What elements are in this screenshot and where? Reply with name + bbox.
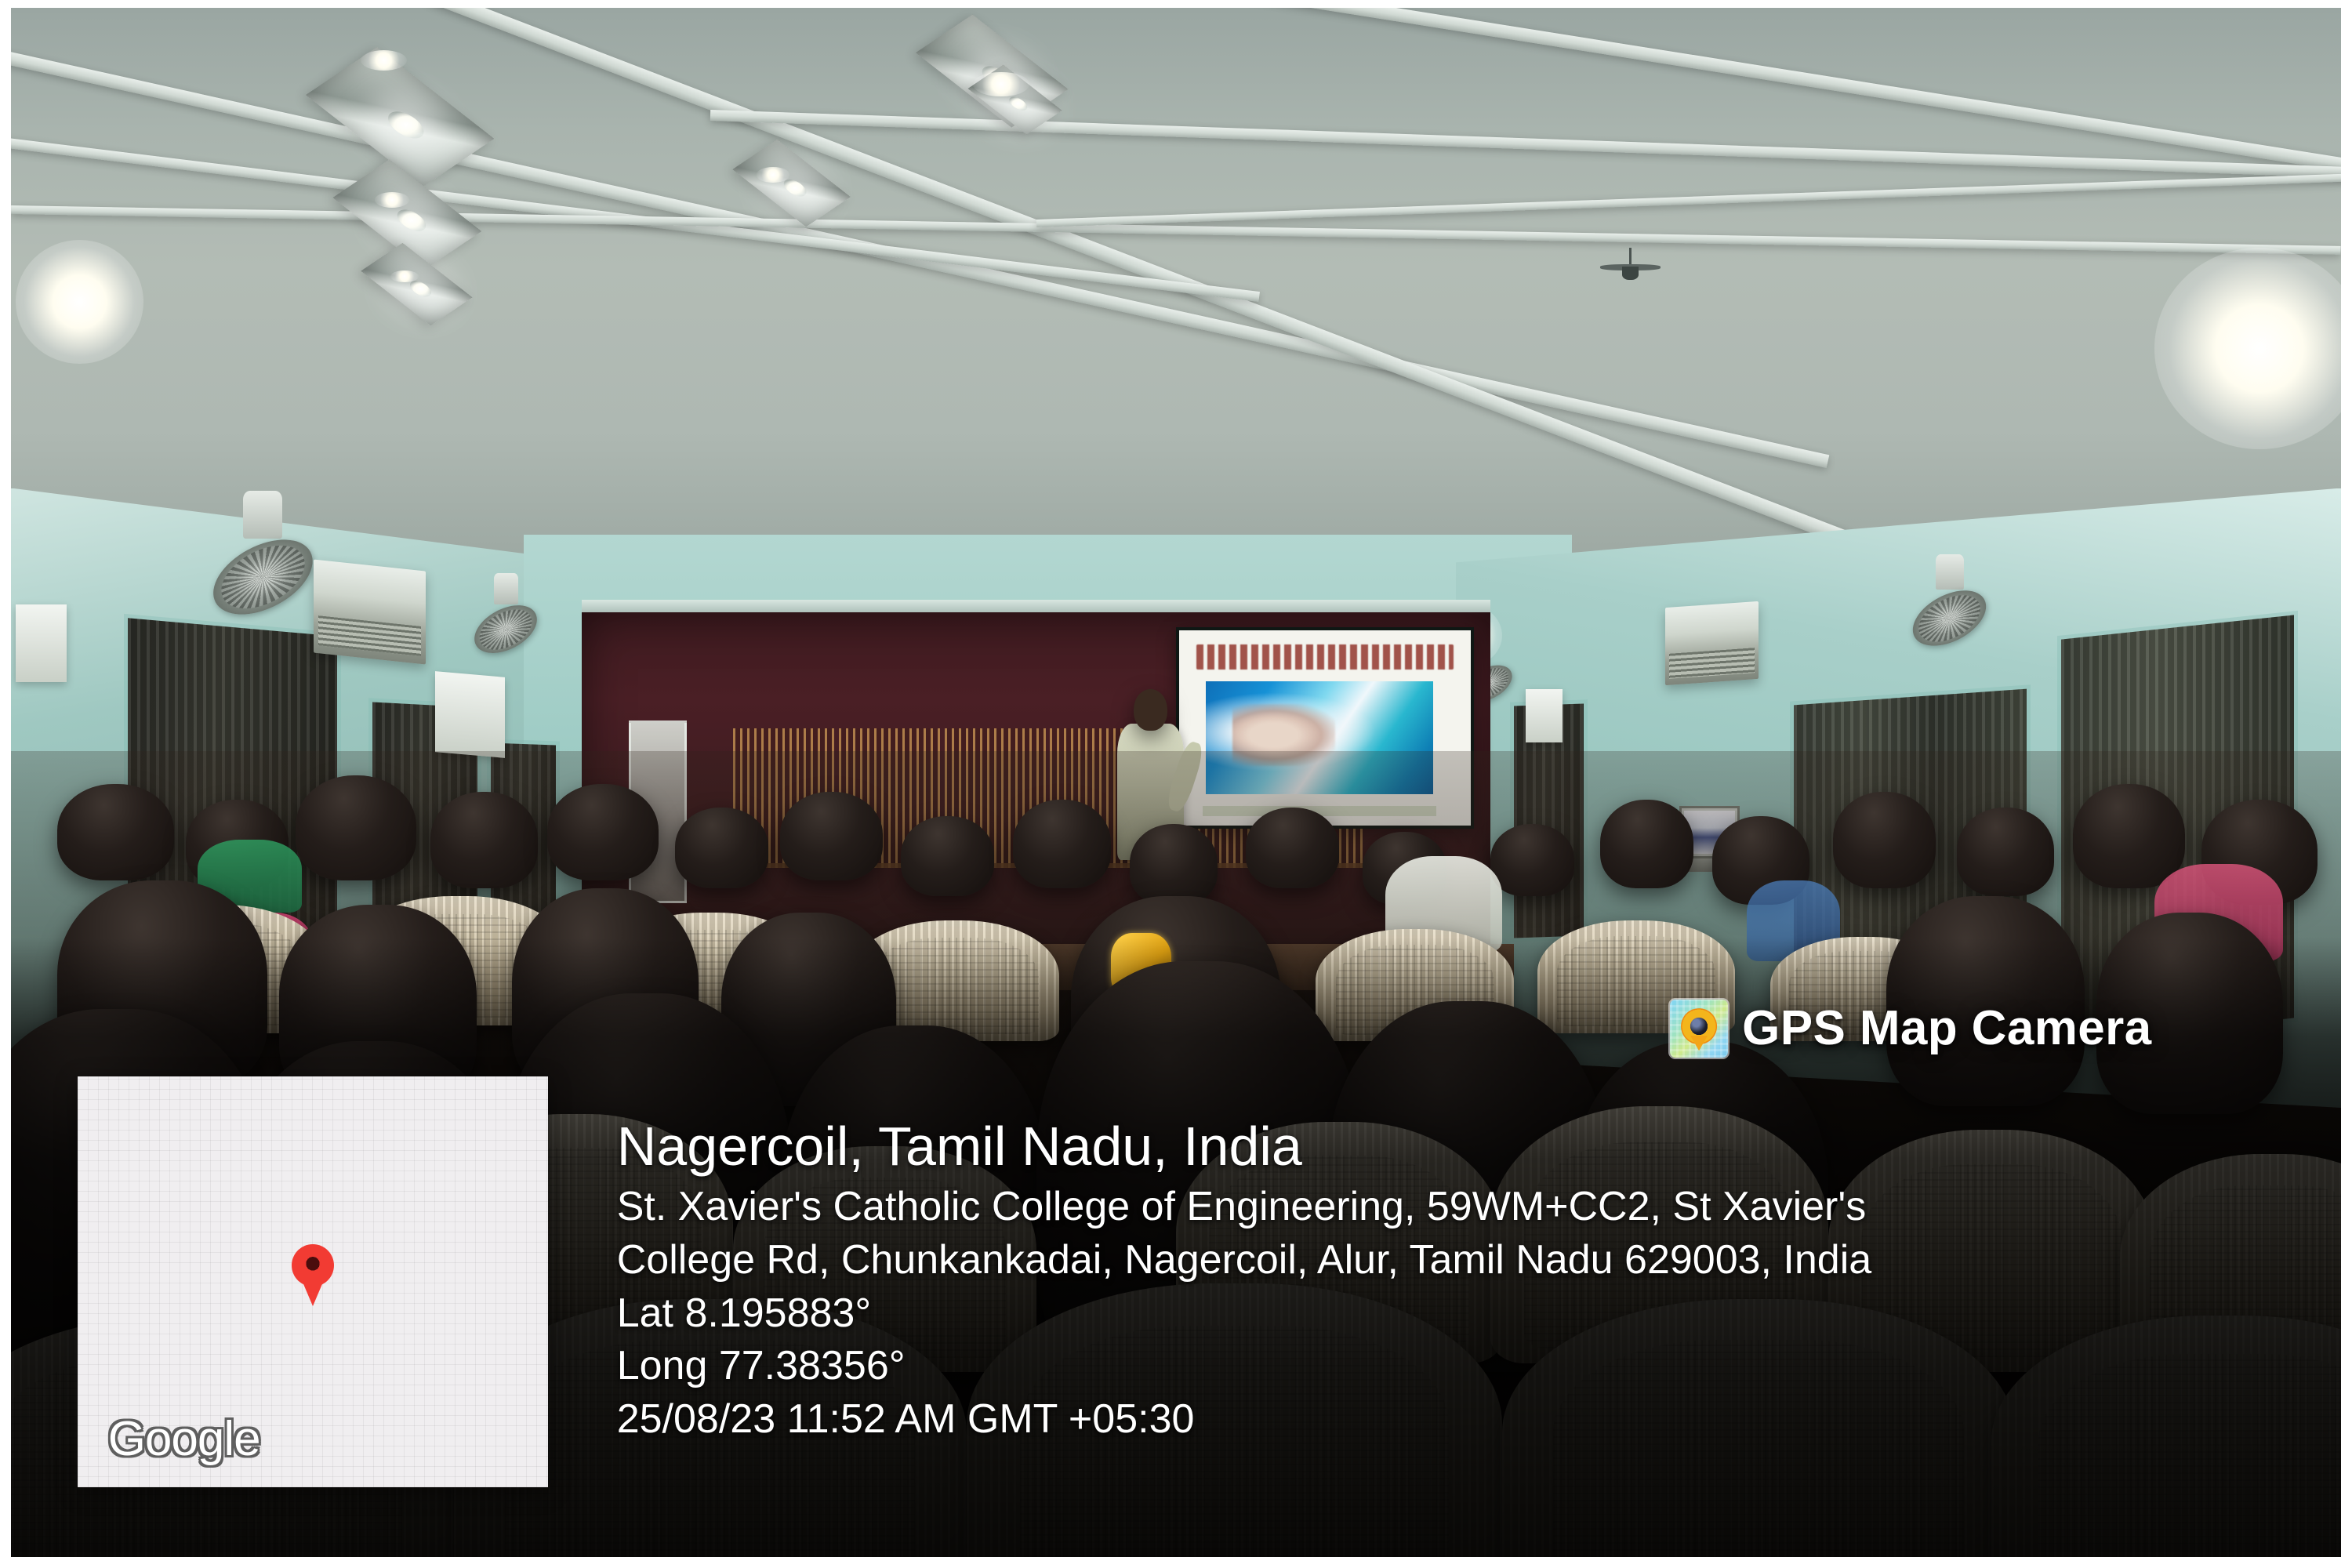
ceiling-spotlight bbox=[361, 50, 407, 71]
photo-frame: GPS Map Camera Google Nagercoil, Tamil N… bbox=[0, 0, 2352, 1568]
attendee-head bbox=[1600, 800, 1693, 888]
ac-vent bbox=[318, 616, 421, 657]
ceiling-spotlight bbox=[757, 167, 789, 182]
attendee-head bbox=[1957, 808, 2055, 896]
attendee-head bbox=[57, 784, 174, 880]
wall-fan-icon bbox=[209, 527, 317, 627]
attendee-head bbox=[430, 792, 538, 888]
attendee-head bbox=[780, 792, 883, 880]
ceiling-spotlight bbox=[973, 72, 1029, 96]
wall-glare-left bbox=[16, 240, 143, 364]
location-place: Nagercoil, Tamil Nadu, India bbox=[617, 1117, 2248, 1177]
air-conditioner-unit bbox=[1665, 601, 1759, 685]
location-info-panel: Nagercoil, Tamil Nadu, India St. Xavier'… bbox=[617, 1117, 2248, 1446]
ceiling-beam bbox=[1036, 170, 2341, 227]
attendee-head bbox=[1130, 824, 1218, 905]
location-latitude: Lat 8.195883° bbox=[617, 1287, 2248, 1341]
capture-timestamp: 25/08/23 11:52 AM GMT +05:30 bbox=[617, 1393, 2248, 1446]
wall-speaker bbox=[16, 604, 67, 682]
fan-mount bbox=[243, 491, 281, 539]
map-pin-dome bbox=[292, 1244, 334, 1287]
recessed-light-cove bbox=[361, 242, 472, 325]
wall-speaker bbox=[435, 671, 505, 758]
wall-fan-icon bbox=[1910, 581, 1989, 655]
wall-speaker bbox=[1526, 689, 1563, 742]
gps-map-camera-logo-icon bbox=[1670, 1000, 1728, 1058]
attendee-head bbox=[2073, 784, 2185, 889]
fan-rod bbox=[1629, 248, 1632, 266]
watermark-label: GPS Map Camera bbox=[1742, 1000, 2151, 1056]
gps-map-camera-watermark: GPS Map Camera bbox=[1670, 1000, 2151, 1058]
ceiling-spotlight bbox=[375, 192, 410, 208]
attendee-head bbox=[1833, 792, 1936, 888]
ceiling-light-icon bbox=[393, 206, 431, 234]
ac-vent bbox=[1669, 648, 1755, 678]
presenter-head bbox=[1134, 689, 1167, 730]
fan-mount bbox=[494, 573, 518, 604]
attendee-head bbox=[296, 775, 417, 880]
attendee-head bbox=[1246, 808, 1339, 888]
google-logo: Google bbox=[108, 1411, 260, 1467]
ceiling-beam bbox=[11, 22, 1829, 469]
map-pin-icon bbox=[292, 1244, 334, 1287]
location-address-line-1: St. Xavier's Catholic College of Enginee… bbox=[617, 1181, 2248, 1234]
location-longitude: Long 77.38356° bbox=[617, 1340, 2248, 1393]
attendee-head bbox=[675, 808, 768, 888]
attendee-head bbox=[901, 816, 994, 897]
location-address-line-2: College Rd, Chunkankadai, Nagercoil, Alu… bbox=[617, 1234, 2248, 1287]
slide-title-text bbox=[1196, 644, 1454, 670]
air-conditioner-unit bbox=[314, 560, 426, 665]
photograph: GPS Map Camera Google Nagercoil, Tamil N… bbox=[11, 8, 2341, 1557]
wall-fan-icon bbox=[472, 597, 539, 662]
ceiling-fan-icon bbox=[1600, 248, 1661, 286]
map-thumbnail[interactable]: Google bbox=[78, 1076, 548, 1487]
fan-hub bbox=[1622, 267, 1639, 280]
ceiling-light-icon bbox=[1006, 95, 1030, 113]
attendee-head bbox=[547, 784, 659, 880]
ceiling-light-icon bbox=[382, 107, 431, 143]
attendee-head bbox=[1013, 800, 1111, 888]
attendee-head bbox=[1490, 824, 1574, 896]
fan-mount bbox=[1936, 554, 1964, 590]
